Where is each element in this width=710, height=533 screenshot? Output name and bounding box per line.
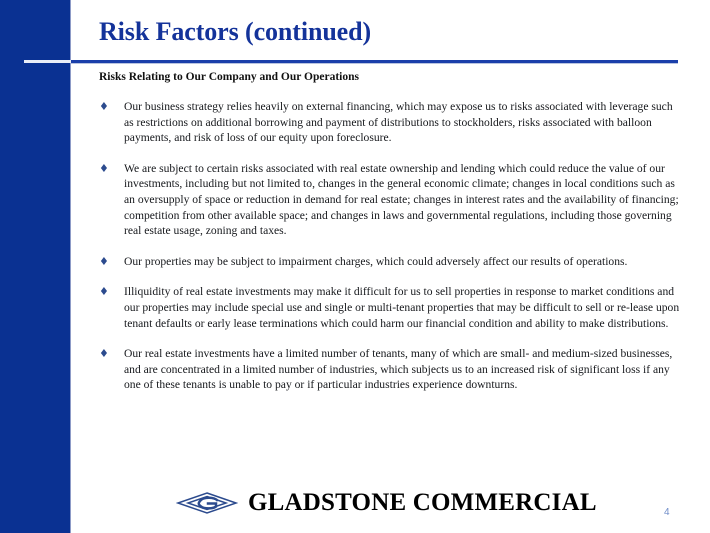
risk-factor-list: ♦ Our business strategy relies heavily o…: [99, 99, 681, 408]
page-title: Risk Factors (continued): [99, 17, 371, 47]
list-item-text: We are subject to certain risks associat…: [124, 161, 681, 239]
band-tick-rule: [24, 60, 71, 63]
diamond-bullet-icon: ♦: [99, 161, 124, 177]
list-item: ♦ Our business strategy relies heavily o…: [99, 99, 681, 146]
list-item-text: Our business strategy relies heavily on …: [124, 99, 681, 146]
list-item: ♦ Our real estate investments have a lim…: [99, 346, 681, 393]
list-item-text: Our real estate investments have a limit…: [124, 346, 681, 393]
left-accent-band-edge: [70, 0, 71, 533]
gladstone-diamond-logo-icon: [176, 490, 238, 516]
diamond-bullet-icon: ♦: [99, 99, 124, 115]
diamond-bullet-icon: ♦: [99, 254, 124, 270]
diamond-bullet-icon: ♦: [99, 284, 124, 300]
list-item: ♦ We are subject to certain risks associ…: [99, 161, 681, 239]
list-item-text: Our properties may be subject to impairm…: [124, 254, 681, 270]
left-accent-band: [0, 0, 70, 533]
section-subtitle: Risks Relating to Our Company and Our Op…: [99, 71, 359, 83]
list-item: ♦ Our properties may be subject to impai…: [99, 254, 681, 270]
diamond-bullet-icon: ♦: [99, 346, 124, 362]
slide: Risk Factors (continued) Risks Relating …: [0, 0, 710, 533]
company-name: GLADSTONE COMMERCIAL: [248, 489, 597, 517]
list-item-text: Illiquidity of real estate investments m…: [124, 284, 681, 331]
header-divider-rule-shadow: [71, 63, 678, 64]
page-number: 4: [664, 507, 670, 518]
slide-footer: GLADSTONE COMMERCIAL 4: [0, 483, 710, 533]
list-item: ♦ Illiquidity of real estate investments…: [99, 284, 681, 331]
company-logo: GLADSTONE COMMERCIAL: [176, 489, 597, 517]
